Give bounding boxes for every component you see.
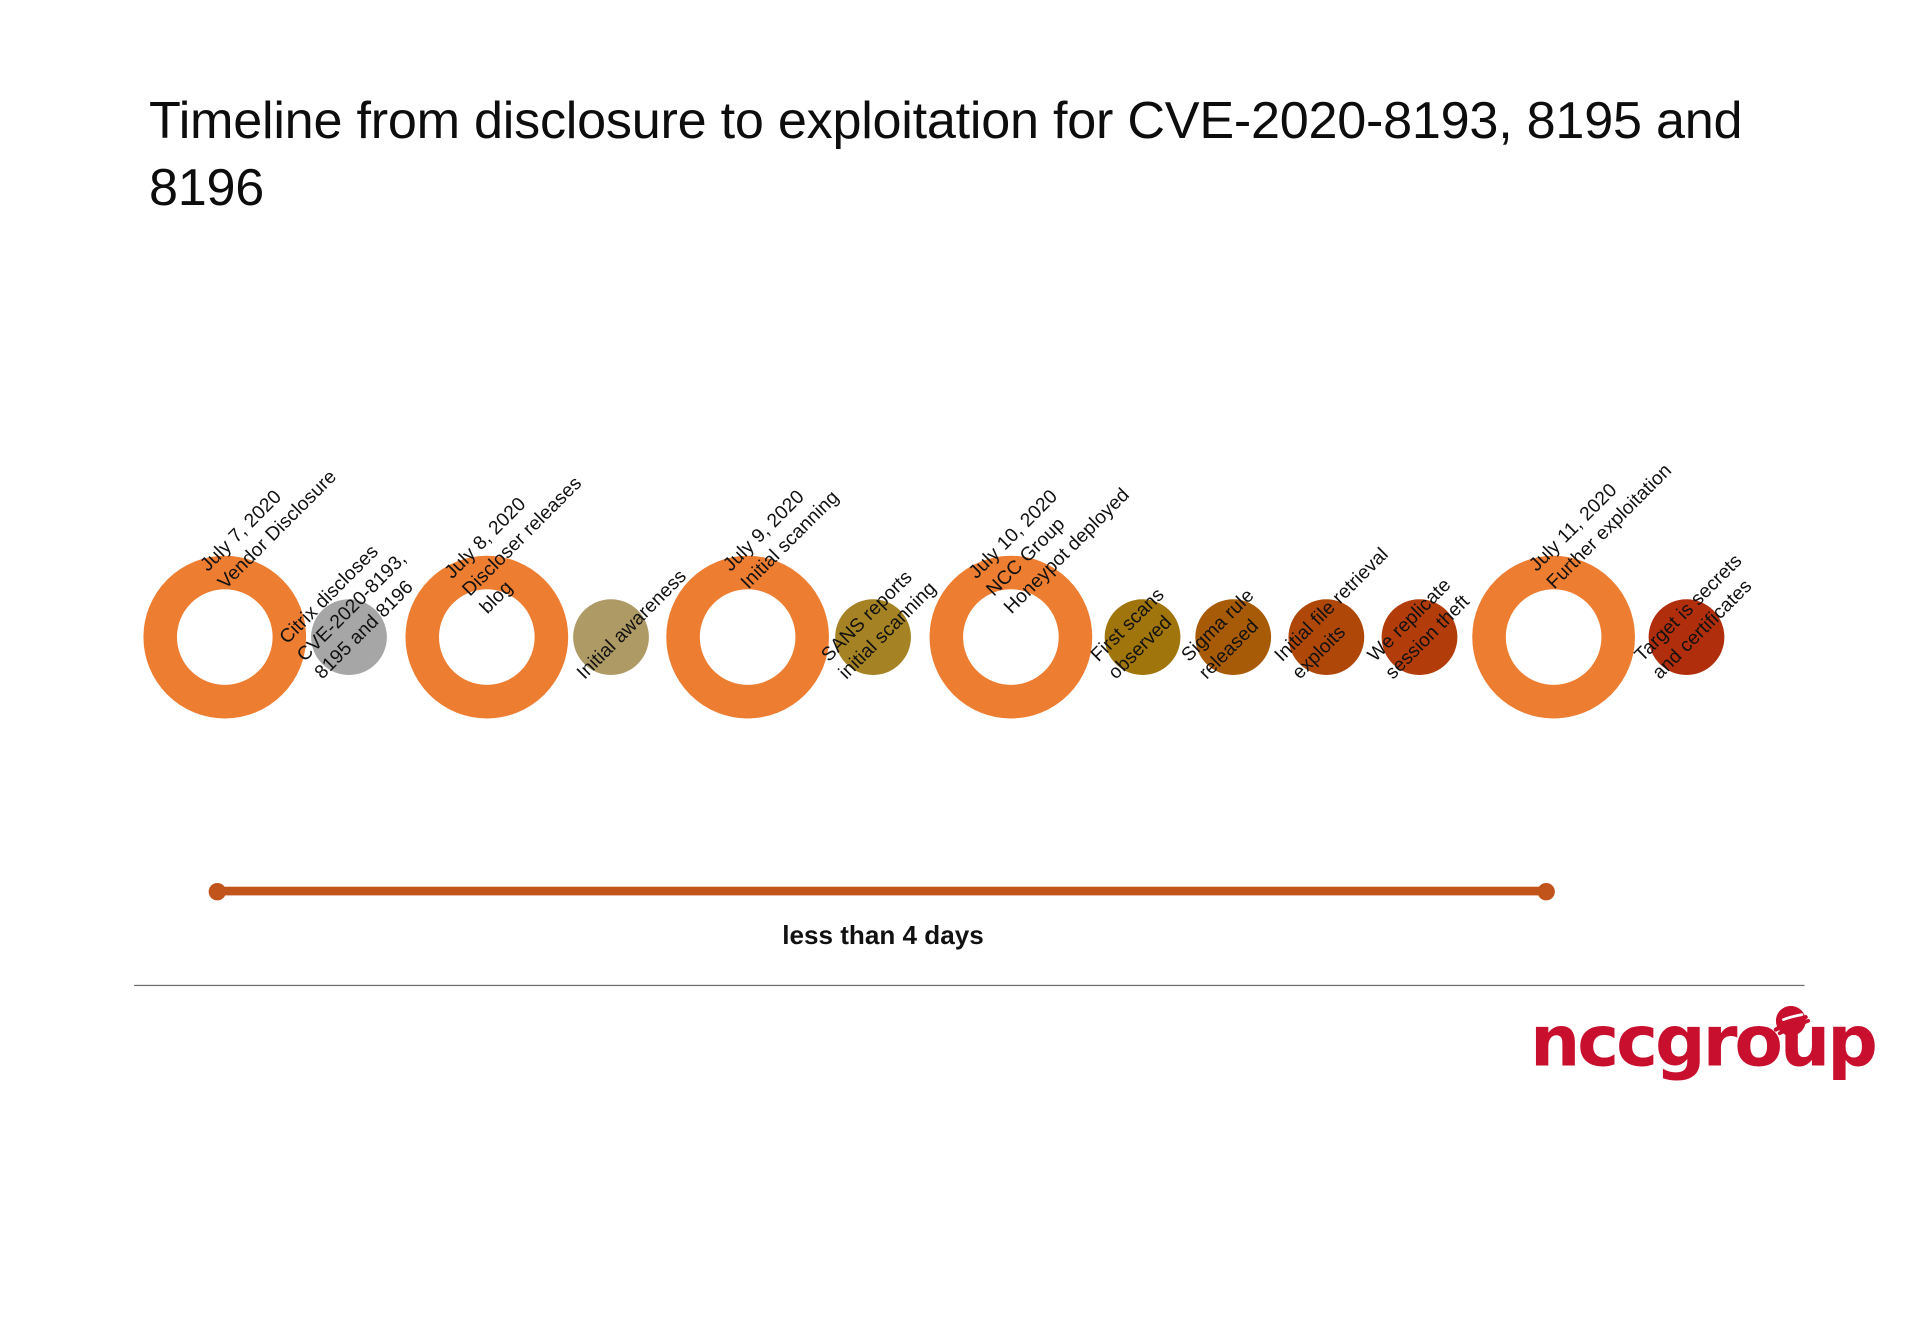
logo-swoosh-icon (1767, 1006, 1812, 1038)
slide-canvas: Timeline from disclosure to exploitation… (0, 0, 1920, 1093)
logo-wordmark: nccgroup (1530, 1001, 1875, 1083)
slide-root: Timeline from disclosure to exploitation… (0, 0, 1920, 1341)
duration-bar-cap-right (1537, 883, 1554, 900)
nccgroup-logo: nccgroup (1530, 1003, 1809, 1080)
duration-caption: less than 4 days (217, 921, 1548, 951)
duration-bar-line (217, 887, 1548, 896)
timeline-label-8: Sigma rule released (1177, 584, 1278, 685)
footer-divider (134, 985, 1804, 986)
